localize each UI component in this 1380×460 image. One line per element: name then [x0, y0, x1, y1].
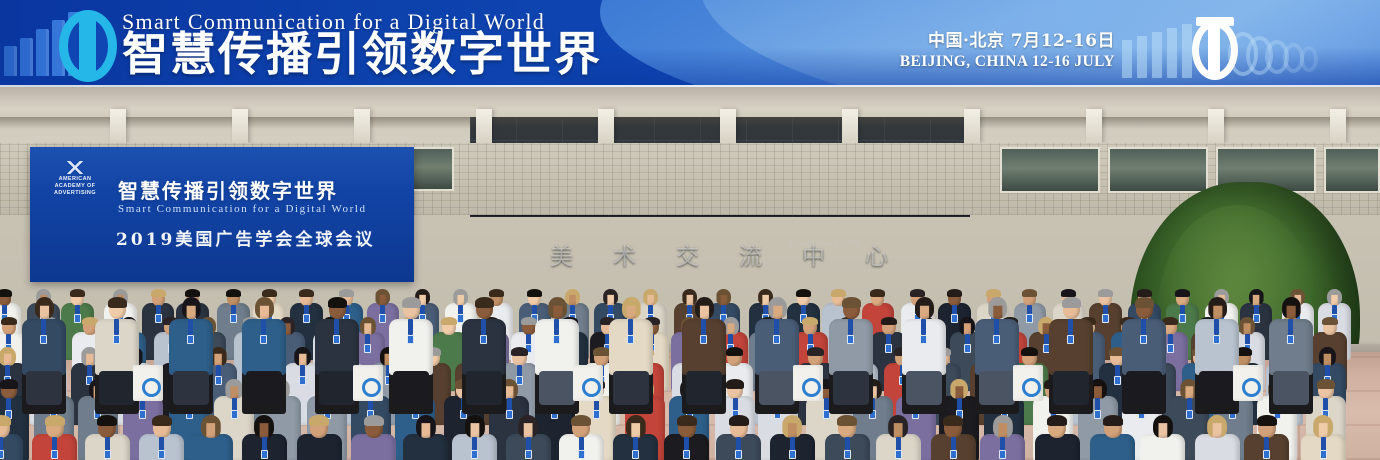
attendee-torso — [403, 434, 448, 460]
attendee-badge — [261, 450, 268, 459]
attendee-legs — [173, 371, 209, 405]
header-title-chinese: 智慧传播引领数字世界 — [122, 28, 602, 80]
conference-tote-bag — [573, 365, 603, 401]
attendee-badge — [578, 450, 585, 459]
attendee-badge — [950, 450, 957, 459]
attendee-lanyard — [41, 319, 46, 335]
attendee-badge — [113, 335, 120, 344]
attendee-seated — [1120, 297, 1168, 409]
attendee-torso — [1140, 434, 1185, 460]
attendee-seated — [460, 297, 508, 409]
conference-tote-bag — [793, 365, 823, 401]
logo-bar-1 — [4, 46, 17, 76]
header-date-chinese: 中国·北京 7月12-16日 — [900, 30, 1115, 52]
attendee-badge — [993, 335, 1000, 344]
attendee-badge — [1067, 335, 1074, 344]
attendee-badge — [471, 450, 478, 459]
attendee-lanyard — [1214, 319, 1219, 335]
attendee-legs — [319, 371, 355, 405]
attendee-lanyard — [701, 319, 706, 335]
attendee-lanyard — [1000, 437, 1005, 451]
attendee-lanyard — [159, 437, 164, 451]
attendee-lanyard — [994, 319, 999, 335]
attendee-lanyard — [1264, 437, 1269, 451]
attendee-lanyard — [554, 319, 559, 335]
attendee-torso — [351, 434, 396, 460]
attendee-lanyard — [1068, 319, 1073, 335]
binary-hero-cap — [1196, 17, 1234, 26]
attendee-legs — [613, 371, 649, 405]
attendee-seated — [827, 297, 875, 409]
attendee-badge — [844, 450, 851, 459]
attendee-legs — [979, 371, 1015, 405]
attendee-badge — [260, 335, 267, 344]
attendee-badge — [1263, 450, 1270, 459]
attendee-torso — [297, 434, 342, 460]
attendee-torso — [188, 434, 233, 460]
attendee-seated — [387, 297, 435, 409]
attendee-legs — [393, 371, 429, 405]
attendee-badge — [683, 450, 690, 459]
aaa-logo-mark — [60, 161, 90, 174]
attendee-lanyard — [262, 437, 267, 451]
header-date-block: 中国·北京 7月12-16日 BEIJING, CHINA 12-16 JULY — [900, 30, 1115, 72]
attendee-lanyard — [334, 319, 339, 335]
attendee-badge — [187, 335, 194, 344]
attendee-seated — [167, 297, 215, 409]
attendee-lanyard — [896, 437, 901, 451]
logo-bar-2 — [20, 38, 33, 76]
attendee-lanyard — [408, 319, 413, 335]
attendee-hair — [402, 297, 421, 308]
attendee-torso — [1090, 434, 1135, 460]
attendee-badge — [632, 450, 639, 459]
attendee-badge — [789, 450, 796, 459]
attendee-lanyard — [114, 319, 119, 335]
attendee-torso — [1195, 434, 1240, 460]
attendee-badge — [40, 335, 47, 344]
attendee-legs — [26, 371, 62, 405]
attendee-seated — [20, 297, 68, 409]
attendee-badge — [0, 450, 4, 459]
attendee-badge — [999, 450, 1006, 459]
attendee-badge — [847, 335, 854, 344]
attendee-badge — [735, 450, 742, 459]
attendee-lanyard — [684, 437, 689, 451]
attendee-lanyard — [472, 437, 477, 451]
attendee-badge — [1213, 335, 1220, 344]
attendee-badge — [104, 450, 111, 459]
logo-one-stroke — [79, 18, 96, 74]
attendee-badge — [895, 450, 902, 459]
attendee-badge — [51, 450, 58, 459]
attendee-legs — [246, 371, 282, 405]
attendee-lanyard — [1321, 437, 1326, 451]
group-photo: 美术交流中心 Established 1958 AMERICAN ACADEMY… — [0, 87, 1380, 460]
attendee-legs — [1273, 371, 1309, 405]
attendee-lanyard — [790, 437, 795, 451]
attendee-lanyard — [774, 319, 779, 335]
front-row-seated — [0, 287, 1380, 422]
attendee-badge — [480, 335, 487, 344]
attendee-legs — [906, 371, 942, 405]
attendee-hair — [842, 297, 861, 308]
attendee-lanyard — [736, 437, 741, 451]
conference-tote-bag — [353, 365, 383, 401]
logo-bar-3 — [36, 29, 49, 76]
attendee-badge — [773, 335, 780, 344]
attendee-lanyard — [261, 319, 266, 335]
attendee-lanyard — [0, 437, 3, 451]
attendee-seated — [240, 297, 288, 409]
attendee-legs — [1199, 371, 1235, 405]
attendee-lanyard — [1141, 319, 1146, 335]
conference-tote-bag — [1013, 365, 1043, 401]
attendee-lanyard — [188, 319, 193, 335]
attendee-badge — [1320, 450, 1327, 459]
attendee-seated — [1047, 297, 1095, 409]
attendee-badge — [333, 335, 340, 344]
attendee-lanyard — [526, 437, 531, 451]
attendee-hair — [475, 297, 494, 308]
binary-hero-one — [1208, 26, 1220, 74]
attendee-seated — [680, 297, 728, 409]
canopy-shadow — [0, 117, 1380, 129]
binary-decoration-icon — [1120, 20, 1338, 82]
attendee-badge — [525, 450, 532, 459]
attendee-lanyard — [52, 437, 57, 451]
attendee-hair — [108, 297, 127, 308]
conference-binary-logo-icon — [2, 8, 120, 82]
attendee-lanyard — [105, 437, 110, 451]
conference-banner-page: Smart Communication for a Digital World … — [0, 0, 1380, 460]
attendee-seated — [900, 297, 948, 409]
conference-tote-bag — [133, 365, 163, 401]
attendee-legs — [99, 371, 135, 405]
site-header-banner: Smart Communication for a Digital World … — [0, 0, 1380, 87]
attendee-torso — [1035, 434, 1080, 460]
header-date-english: BEIJING, CHINA 12-16 JULY — [900, 52, 1115, 72]
conference-tote-bag — [1233, 365, 1263, 401]
attendee-lanyard — [951, 437, 956, 451]
attendee-legs — [833, 371, 869, 405]
attendee-legs — [686, 371, 722, 405]
attendee-legs — [1053, 371, 1089, 405]
attendee-lanyard — [848, 319, 853, 335]
attendee-badge — [158, 450, 165, 459]
attendee-lanyard — [1288, 319, 1293, 335]
attendee-lanyard — [628, 319, 633, 335]
plaza-shadow — [0, 87, 1380, 109]
attendee-badge — [1287, 335, 1294, 344]
attendee-hair — [1062, 297, 1081, 308]
attendee-lanyard — [633, 437, 638, 451]
attendee-lanyard — [845, 437, 850, 451]
attendee-badge — [407, 335, 414, 344]
attendee-badge — [700, 335, 707, 344]
attendee-legs — [466, 371, 502, 405]
attendee-hair — [328, 297, 347, 308]
attendee-hair — [1135, 297, 1154, 308]
attendee-badge — [553, 335, 560, 344]
attendee-lanyard — [481, 319, 486, 335]
attendee-seated — [1267, 297, 1315, 409]
attendee-badge — [1140, 335, 1147, 344]
attendee-badge — [627, 335, 634, 344]
attendee-lanyard — [921, 319, 926, 335]
attendee-legs — [1126, 371, 1162, 405]
attendee-seated — [607, 297, 655, 409]
attendee-badge — [920, 335, 927, 344]
attendee-lanyard — [579, 437, 584, 451]
attendee-legs — [759, 371, 795, 405]
attendee-legs — [539, 371, 575, 405]
